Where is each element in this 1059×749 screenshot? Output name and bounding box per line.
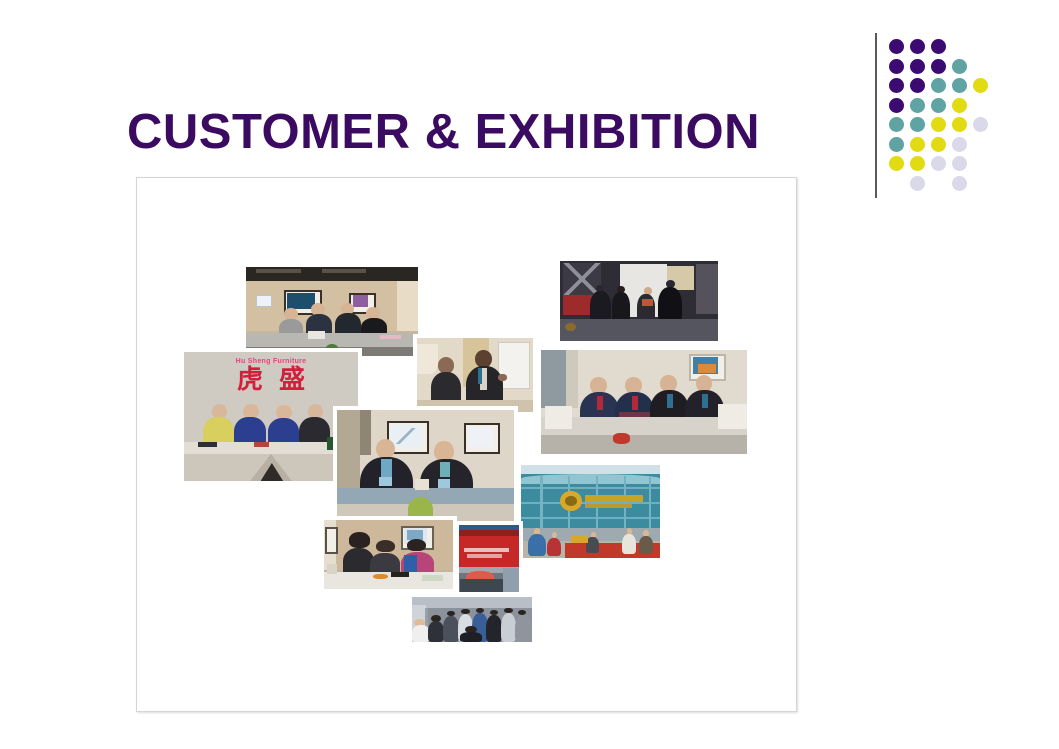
photo-husheng-image: Hu Sheng Furniture 虎盛	[184, 352, 358, 481]
logo-dot-teal	[931, 98, 946, 113]
logo-dot-yellow	[952, 98, 967, 113]
logo-dot-lavender	[952, 137, 967, 152]
photo-desk-trio	[320, 516, 457, 593]
logo-dot-lavender	[910, 176, 925, 191]
logo-dot-teal	[931, 78, 946, 93]
logo-dot-teal	[889, 137, 904, 152]
logo-dot-grid	[889, 39, 993, 195]
logo-dot-purple	[910, 59, 925, 74]
brand-logo	[868, 30, 993, 200]
photo-hall-visitors-image	[560, 261, 718, 341]
photo-thumbs-pair	[413, 334, 537, 416]
photo-fair-complex-image	[521, 465, 660, 558]
photo-bed-group-image	[541, 350, 747, 454]
logo-dot-purple	[910, 78, 925, 93]
logo-dot-purple	[889, 98, 904, 113]
logo-dot-purple	[931, 39, 946, 54]
photo-desk-trio-image	[324, 520, 453, 589]
logo-dot-teal	[910, 98, 925, 113]
photo-red-banner-image	[459, 525, 519, 592]
photo-booth-team-image	[246, 267, 418, 356]
logo-dot-yellow	[889, 156, 904, 171]
logo-dot-yellow	[931, 137, 946, 152]
slide: CUSTOMER & EXHIBITION	[0, 0, 1059, 749]
photo-fair-complex	[517, 461, 664, 562]
logo-dot-teal	[952, 78, 967, 93]
logo-dot-yellow	[952, 117, 967, 132]
content-frame: Hu Sheng Furniture 虎盛	[136, 177, 797, 712]
logo-dot-lavender	[931, 156, 946, 171]
logo-dot-lavender	[952, 156, 967, 171]
page-title: CUSTOMER & EXHIBITION	[127, 104, 760, 160]
logo-divider-line	[875, 33, 877, 198]
logo-dot-purple	[889, 39, 904, 54]
photo-collage: Hu Sheng Furniture 虎盛	[137, 178, 796, 711]
husheng-brand-chinese: 虎盛	[221, 367, 321, 393]
logo-dot-yellow	[973, 78, 988, 93]
photo-two-men	[333, 406, 518, 526]
logo-dot-purple	[910, 39, 925, 54]
logo-dot-lavender	[973, 117, 988, 132]
logo-dot-purple	[889, 78, 904, 93]
logo-dot-teal	[889, 117, 904, 132]
photo-bed-group	[537, 346, 751, 458]
logo-dot-teal	[910, 117, 925, 132]
logo-dot-purple	[931, 59, 946, 74]
photo-hall-visitors	[556, 257, 722, 345]
logo-dot-purple	[889, 59, 904, 74]
photo-booth-team	[242, 263, 422, 360]
photo-thumbs-pair-image	[417, 338, 533, 412]
logo-dot-teal	[952, 59, 967, 74]
logo-dot-lavender	[952, 176, 967, 191]
logo-dot-yellow	[910, 137, 925, 152]
photo-entrance-crowd	[408, 593, 536, 646]
husheng-brand-text: Hu Sheng Furniture	[236, 358, 307, 365]
logo-dot-yellow	[931, 117, 946, 132]
logo-dot-yellow	[910, 156, 925, 171]
photo-entrance-crowd-image	[412, 597, 532, 642]
photo-red-banner	[455, 521, 523, 596]
photo-two-men-image	[337, 410, 514, 522]
